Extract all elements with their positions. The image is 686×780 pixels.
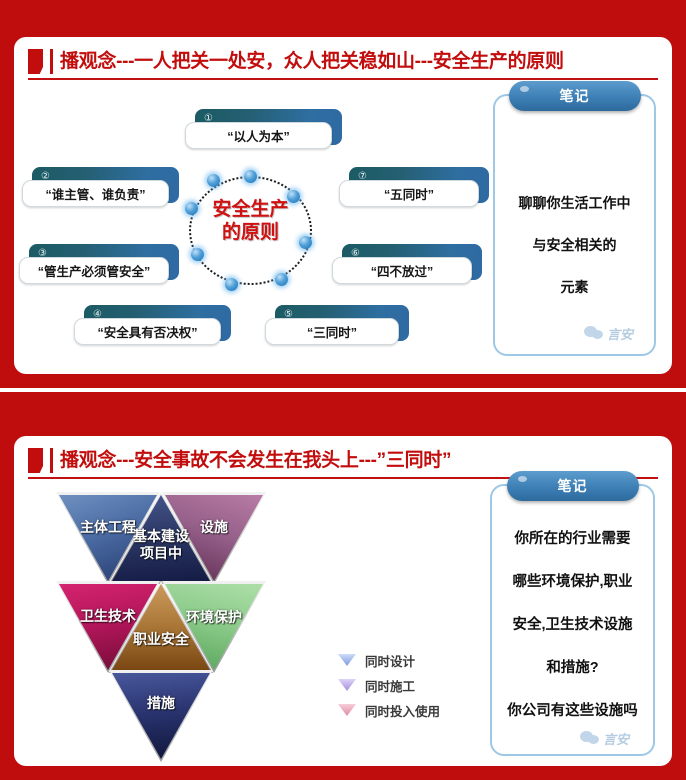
list-item[interactable]: 同时设计 — [336, 648, 440, 673]
triangle-label: 措施 — [147, 695, 175, 712]
gem-icon — [336, 703, 358, 718]
watermark-label: 言安 — [607, 324, 633, 343]
simultaneous-list: 同时设计 同时施工 同时投入使用 — [336, 648, 440, 723]
principle-front: “五同时” — [339, 180, 479, 207]
notes-text: 聊聊你生活工作中 与安全相关的 元素 — [503, 182, 646, 308]
notes-header: 笔记 — [507, 471, 639, 501]
triangle-fill — [165, 584, 263, 670]
flag-icon — [28, 49, 43, 74]
circle-node — [275, 273, 288, 286]
principle-front: “管生产必须管安全” — [19, 257, 169, 284]
gem-icon — [336, 678, 358, 693]
triangle-fill — [112, 673, 210, 759]
circle-node — [225, 278, 238, 291]
principle-front: “以人为本” — [185, 122, 332, 149]
circle-node — [244, 170, 257, 183]
wechat-icon — [580, 731, 600, 746]
principle-label: “安全具有否决权” — [97, 322, 197, 341]
list-item-label: 同时施工 — [365, 676, 415, 695]
notes-line: 安全,卫生技术设施 — [500, 604, 645, 647]
slide-deck: 播观念---一人把关一处安，众人把关稳如山---安全生产的原则 ① “以人为本”… — [0, 0, 686, 780]
title-divider-bar — [50, 448, 53, 473]
principle-label: “三同时” — [307, 322, 357, 341]
triangle-environmental-protection[interactable]: 环境保护 — [162, 581, 266, 673]
center-line-1: 安全生产 — [183, 198, 318, 221]
notes-line: 你所在的行业需要 — [500, 518, 645, 561]
triangle-label: 设施 — [200, 519, 228, 536]
notes-line: 与安全相关的 — [503, 224, 646, 266]
triangle-measures[interactable]: 措施 — [109, 670, 213, 762]
slide-three-simultaneous: 播观念---安全事故不会发生在我头上---”三同时” 主体工程 基本建设 项目中 — [0, 392, 686, 780]
notes-line: 和措施? — [500, 647, 645, 690]
slide1-title-row: 播观念---一人把关一处安，众人把关稳如山---安全生产的原则 — [28, 49, 658, 80]
principle-label: “谁主管、谁负责” — [45, 184, 145, 203]
watermark-label: 言安 — [603, 729, 629, 748]
slide2-content: 播观念---安全事故不会发生在我头上---”三同时” 主体工程 基本建设 项目中 — [14, 436, 672, 766]
principle-label: “五同时” — [384, 184, 434, 203]
notes-panel: 笔记 你所在的行业需要 哪些环境保护,职业 安全,卫生技术设施 和措施? 你公司… — [490, 484, 655, 756]
triangle-label: 基本建设 项目中 — [133, 528, 189, 562]
page-title: 播观念---一人把关一处安，众人把关稳如山---安全生产的原则 — [60, 52, 564, 71]
notes-line: 元素 — [503, 266, 646, 308]
center-circle-label: 安全生产 的原则 — [183, 198, 318, 244]
center-circle-diagram: 安全生产 的原则 — [183, 168, 318, 293]
principle-front: “安全具有否决权” — [74, 318, 221, 345]
notes-text: 你所在的行业需要 哪些环境保护,职业 安全,卫生技术设施 和措施? 你公司有这些… — [500, 518, 645, 733]
gem-icon — [336, 653, 358, 668]
notes-header-label: 笔记 — [560, 86, 590, 106]
notes-header: 笔记 — [509, 81, 641, 111]
principle-front: “三同时” — [265, 318, 399, 345]
notes-header-label: 笔记 — [558, 476, 588, 496]
slide-principles: 播观念---一人把关一处安，众人把关稳如山---安全生产的原则 ① “以人为本”… — [0, 0, 686, 388]
principle-label: “管生产必须管安全” — [38, 261, 151, 280]
notes-line: 你公司有这些设施吗 — [500, 690, 645, 733]
list-item[interactable]: 同时施工 — [336, 673, 440, 698]
circle-node — [207, 174, 220, 187]
triangle-label: 卫生技术 — [80, 608, 136, 625]
watermark: 言安 — [584, 324, 633, 343]
flag-icon — [28, 448, 43, 473]
principle-label: “四不放过” — [371, 261, 434, 280]
list-item-label: 同时设计 — [365, 651, 415, 670]
wechat-icon — [584, 326, 604, 341]
principle-label: “以人为本” — [227, 126, 290, 145]
title-divider-bar — [50, 49, 53, 74]
triangle-label: 主体工程 — [80, 519, 136, 536]
triangle-diagram: 主体工程 基本建设 项目中 设施 卫生技 — [52, 488, 332, 726]
principle-front: “谁主管、谁负责” — [22, 180, 169, 207]
page-title: 播观念---安全事故不会发生在我头上---”三同时” — [60, 451, 451, 470]
center-line-2: 的原则 — [183, 221, 318, 244]
circle-node — [191, 248, 204, 261]
slide1-content: 播观念---一人把关一处安，众人把关稳如山---安全生产的原则 ① “以人为本”… — [14, 37, 672, 374]
list-item-label: 同时投入使用 — [365, 701, 440, 720]
watermark: 言安 — [580, 729, 629, 748]
notes-line: 聊聊你生活工作中 — [503, 182, 646, 224]
triangle-label: 职业安全 — [133, 631, 189, 648]
principle-front: “四不放过” — [332, 257, 472, 284]
triangle-label: 环境保护 — [186, 609, 242, 626]
notes-line: 哪些环境保护,职业 — [500, 561, 645, 604]
notes-panel: 笔记 聊聊你生活工作中 与安全相关的 元素 — [493, 94, 656, 356]
list-item[interactable]: 同时投入使用 — [336, 698, 440, 723]
